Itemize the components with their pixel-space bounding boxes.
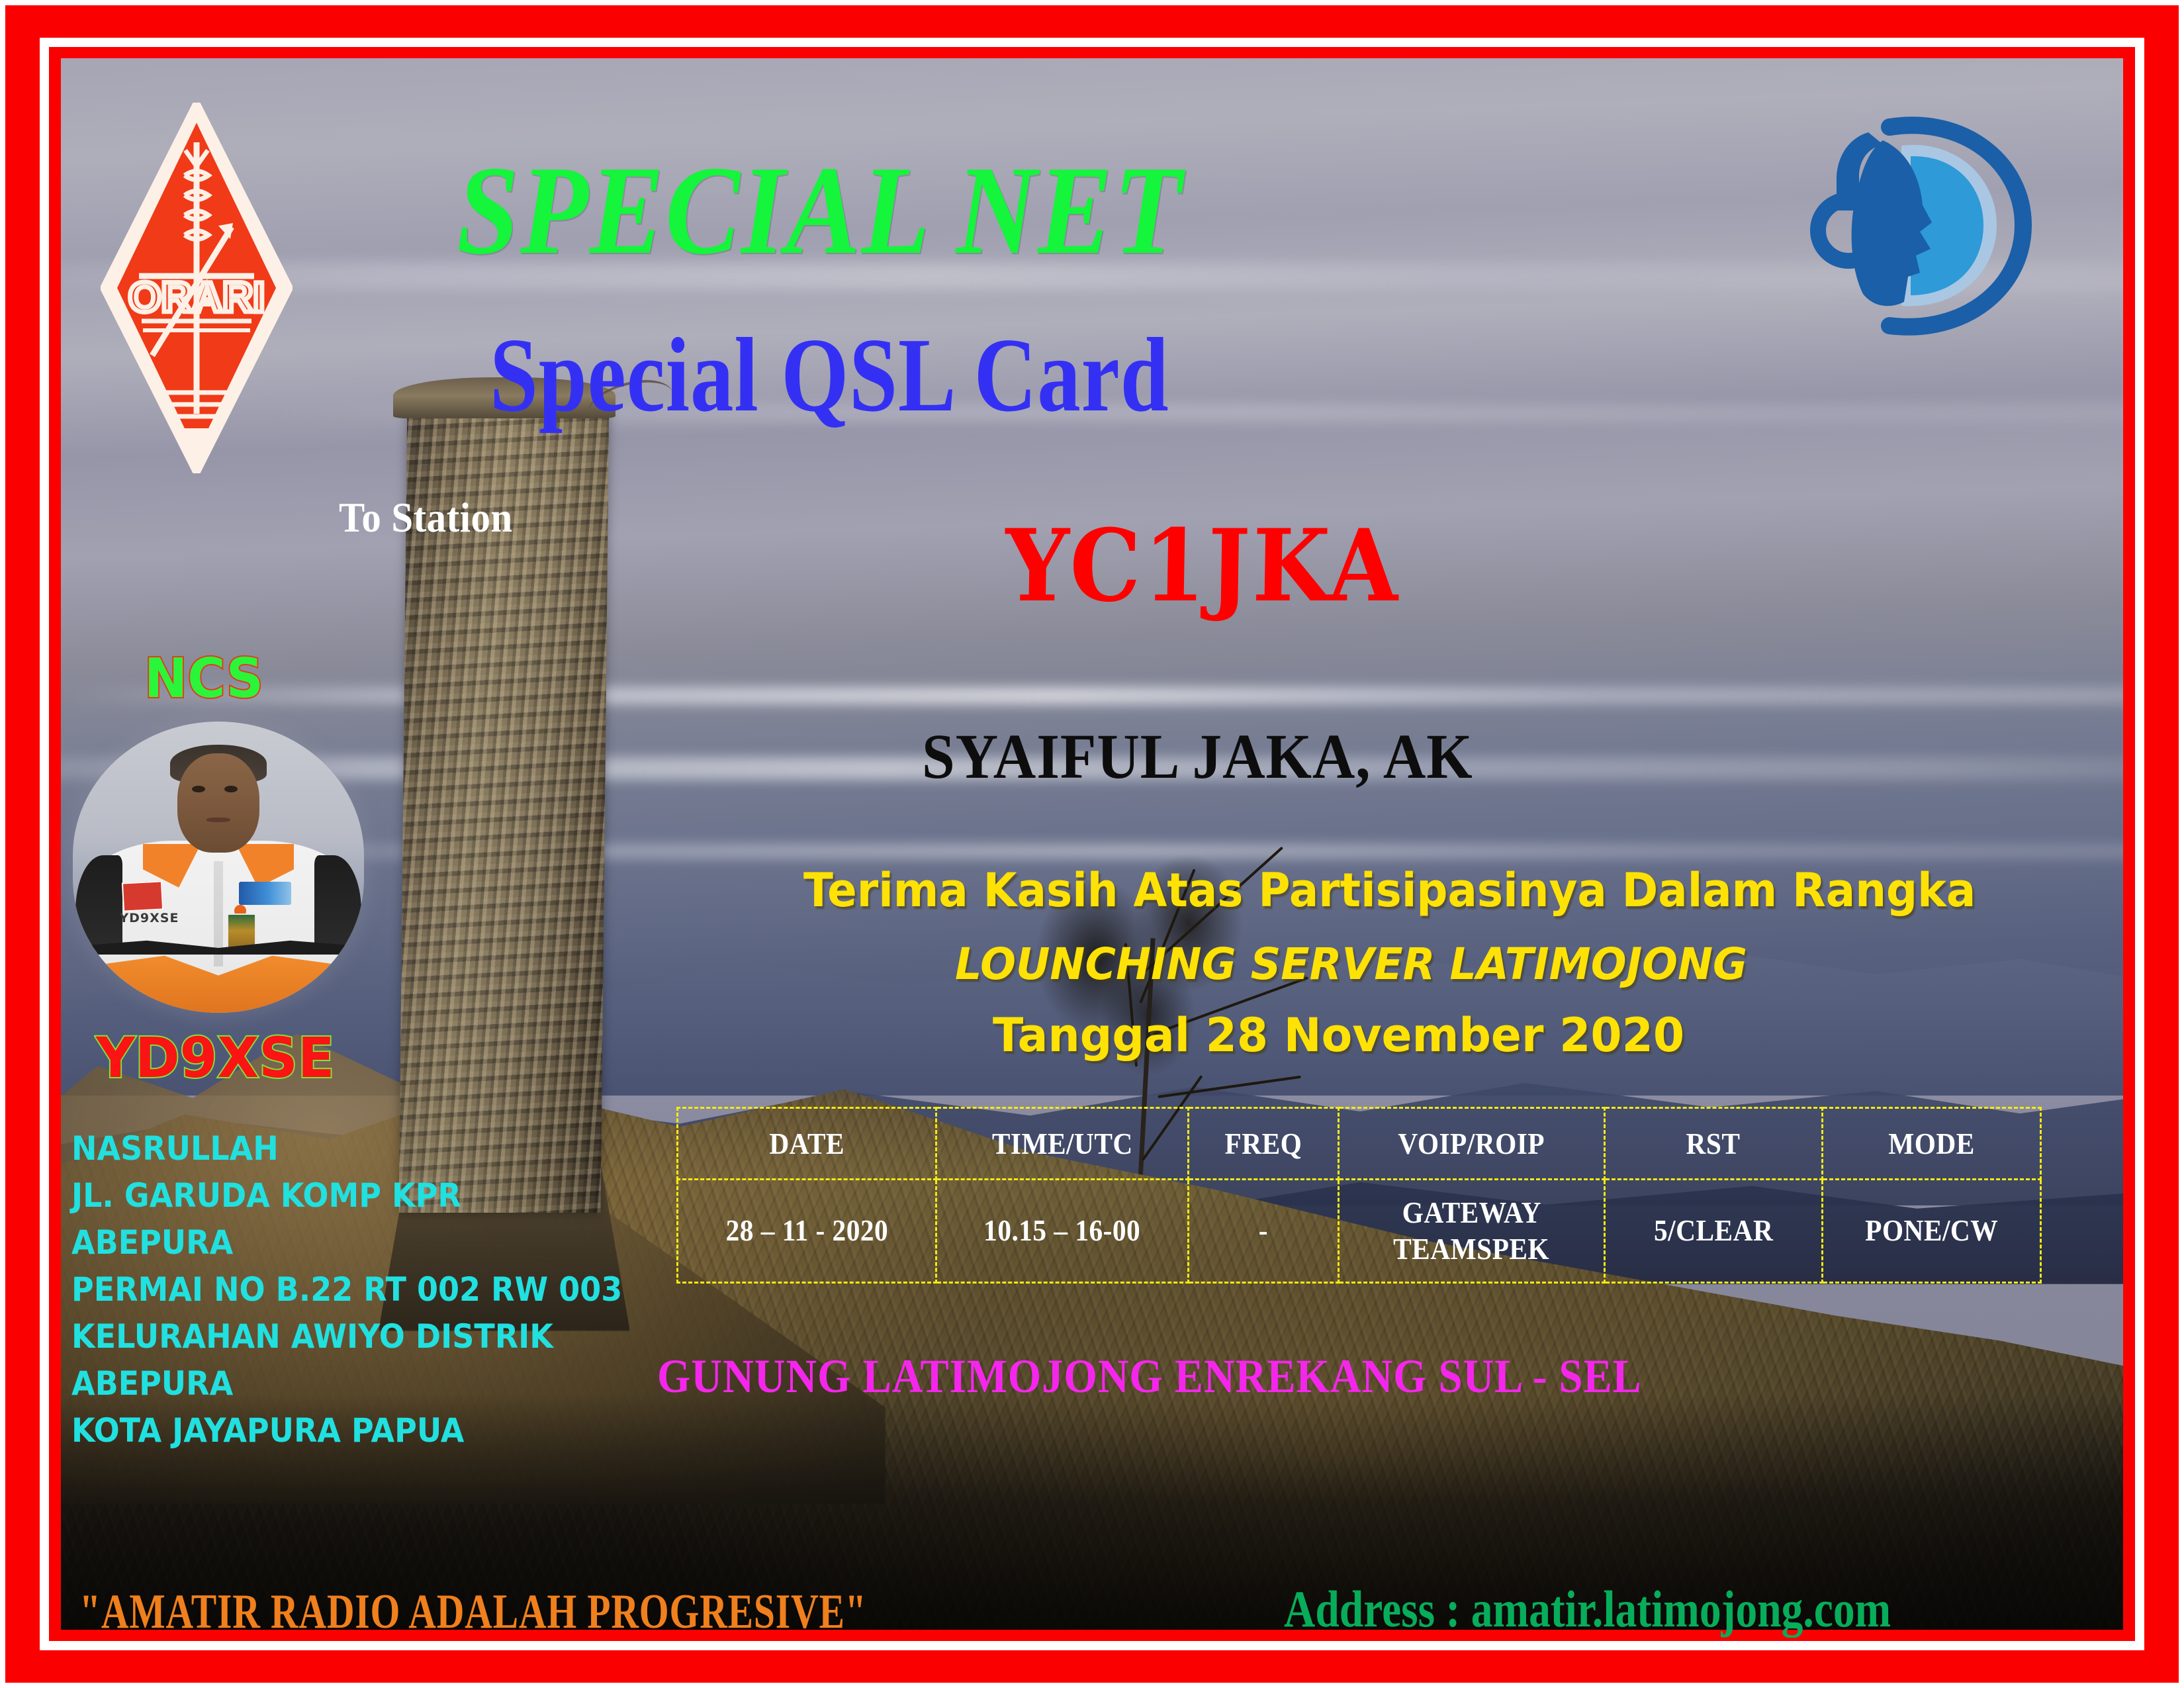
thanks-line: Terima Kasih Atas Partisipasinya Dalam R… xyxy=(803,867,1976,914)
cell-rst: 5/CLEAR xyxy=(1604,1180,1823,1283)
header-mode: MODE xyxy=(1823,1108,2041,1180)
header-voip-text: VOIP/ROIP xyxy=(1398,1126,1545,1161)
header-rst-text: RST xyxy=(1686,1126,1741,1161)
ncs-callsign: YD9XSE xyxy=(96,1030,335,1086)
cell-time-text: 10.15 – 16-00 xyxy=(983,1213,1140,1248)
header-date: DATE xyxy=(678,1108,936,1180)
event-line: LOUNCHING SERVER LATIMOJONG xyxy=(955,943,1747,986)
cloud-band xyxy=(61,687,2123,704)
cell-freq: - xyxy=(1188,1180,1339,1283)
header-time-text: TIME/UTC xyxy=(991,1126,1132,1161)
cell-date-text: 28 – 11 - 2020 xyxy=(725,1213,888,1248)
address-line: KELURAHAN AWIYO DISTRIK xyxy=(71,1313,622,1360)
cell-date: 28 – 11 - 2020 xyxy=(678,1180,936,1283)
orari-logo: ORARI xyxy=(101,103,293,473)
header-mode-text: MODE xyxy=(1888,1126,1975,1161)
portrait-uniform-callsign: YD9XSE xyxy=(119,911,179,925)
cell-voip: GATEWAY TEAMSPEK xyxy=(1339,1180,1604,1283)
title-special-net: SPECIAL NET xyxy=(457,147,1183,274)
address-line: PERMAI NO B.22 RT 002 RW 003 xyxy=(71,1266,622,1313)
header-time: TIME/UTC xyxy=(936,1108,1188,1180)
portrait-badge-left xyxy=(122,880,163,912)
address-line: KOTA JAYAPURA PAPUA xyxy=(71,1407,622,1454)
ncs-label: NCS xyxy=(144,652,263,706)
slogan-text: "AMATIR RADIO ADALAH PROGRESIVE" xyxy=(79,1587,867,1636)
portrait-eye-right xyxy=(224,786,238,793)
qsl-card: ORARI xyxy=(0,0,2184,1688)
table-header-row: DATE TIME/UTC FREQ VOIP/ROIP RST MODE xyxy=(678,1108,2041,1180)
header-rst: RST xyxy=(1604,1108,1823,1180)
orari-wordmark: ORARI xyxy=(128,273,265,321)
cell-voip-text-1: GATEWAY xyxy=(1402,1195,1541,1231)
event-date-line: Tanggal 28 November 2020 xyxy=(993,1012,1684,1058)
cell-mode: PONE/CW xyxy=(1823,1180,2041,1283)
header-freq-text: FREQ xyxy=(1225,1126,1302,1161)
address-line: ABEPURA xyxy=(71,1360,622,1407)
table-row: 28 – 11 - 2020 10.15 – 16-00 - GATEWAY T… xyxy=(678,1180,2041,1283)
cell-time: 10.15 – 16-00 xyxy=(936,1180,1188,1283)
qso-table: DATE TIME/UTC FREQ VOIP/ROIP RST MODE 28… xyxy=(676,1107,2042,1284)
address-line: ABEPURA xyxy=(71,1219,622,1266)
header-freq: FREQ xyxy=(1188,1108,1339,1180)
cell-rst-text: 5/CLEAR xyxy=(1654,1213,1773,1248)
web-address-text: Address : amatir.latimojong.com xyxy=(1284,1583,1891,1635)
operator-name: SYAIFUL JAKA, AK xyxy=(922,725,1473,788)
portrait-mouth xyxy=(206,818,230,822)
portrait-badge-right xyxy=(239,882,291,905)
cell-voip-text-2: TEAMSPEK xyxy=(1393,1231,1549,1267)
title-special-qsl-card: Special QSL Card xyxy=(490,322,1169,428)
operator-portrait: YD9XSE xyxy=(73,722,364,1013)
address-line: NASRULLAH xyxy=(71,1125,622,1172)
to-station-label: To Station xyxy=(339,496,513,539)
header-date-text: DATE xyxy=(769,1126,844,1161)
station-callsign: YC1JKA xyxy=(1005,516,1402,616)
cell-freq-text: - xyxy=(1259,1213,1268,1248)
cell-mode-text: PONE/CW xyxy=(1865,1213,1998,1248)
portrait-face xyxy=(177,753,259,853)
location-line: GUNUNG LATIMOJONG ENREKANG SUL - SEL xyxy=(657,1352,1642,1400)
postal-address-block: NASRULLAHJL. GARUDA KOMP KPRABEPURAPERMA… xyxy=(71,1125,670,1454)
headset-profile-logo xyxy=(1790,99,2068,351)
address-line: JL. GARUDA KOMP KPR xyxy=(71,1172,622,1219)
header-voip: VOIP/ROIP xyxy=(1339,1108,1604,1180)
